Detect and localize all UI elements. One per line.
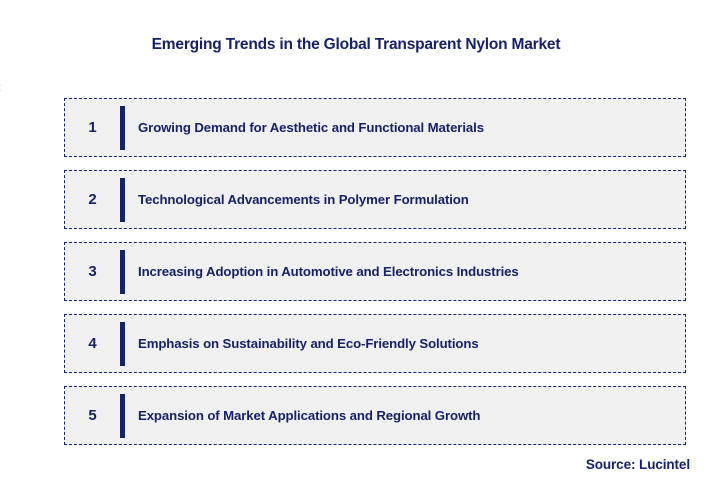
trend-label: Increasing Adoption in Automotive and El… — [125, 264, 685, 280]
trend-number: 3 — [65, 264, 120, 279]
list-item[interactable]: 2 Technological Advancements in Polymer … — [64, 170, 686, 229]
list-item[interactable]: 5 Expansion of Market Applications and R… — [64, 386, 686, 445]
list-item[interactable]: 3 Increasing Adoption in Automotive and … — [64, 242, 686, 301]
clipped-edge-glyph: ; — [0, 80, 3, 94]
infographic-canvas: ; Emerging Trends in the Global Transpar… — [0, 0, 712, 501]
list-item[interactable]: 1 Growing Demand for Aesthetic and Funct… — [64, 98, 686, 157]
trend-label: Growing Demand for Aesthetic and Functio… — [125, 120, 685, 136]
trend-label: Technological Advancements in Polymer Fo… — [125, 192, 685, 208]
source-note: Source: Lucintel — [586, 457, 690, 472]
trend-label: Emphasis on Sustainability and Eco-Frien… — [125, 336, 685, 352]
trend-number: 4 — [65, 336, 120, 351]
trend-number: 2 — [65, 192, 120, 207]
trend-number: 1 — [65, 120, 120, 135]
trend-label: Expansion of Market Applications and Reg… — [125, 408, 685, 424]
page-title: Emerging Trends in the Global Transparen… — [0, 36, 712, 54]
list-item[interactable]: 4 Emphasis on Sustainability and Eco-Fri… — [64, 314, 686, 373]
trend-list: 1 Growing Demand for Aesthetic and Funct… — [64, 98, 686, 445]
trend-number: 5 — [65, 408, 120, 423]
